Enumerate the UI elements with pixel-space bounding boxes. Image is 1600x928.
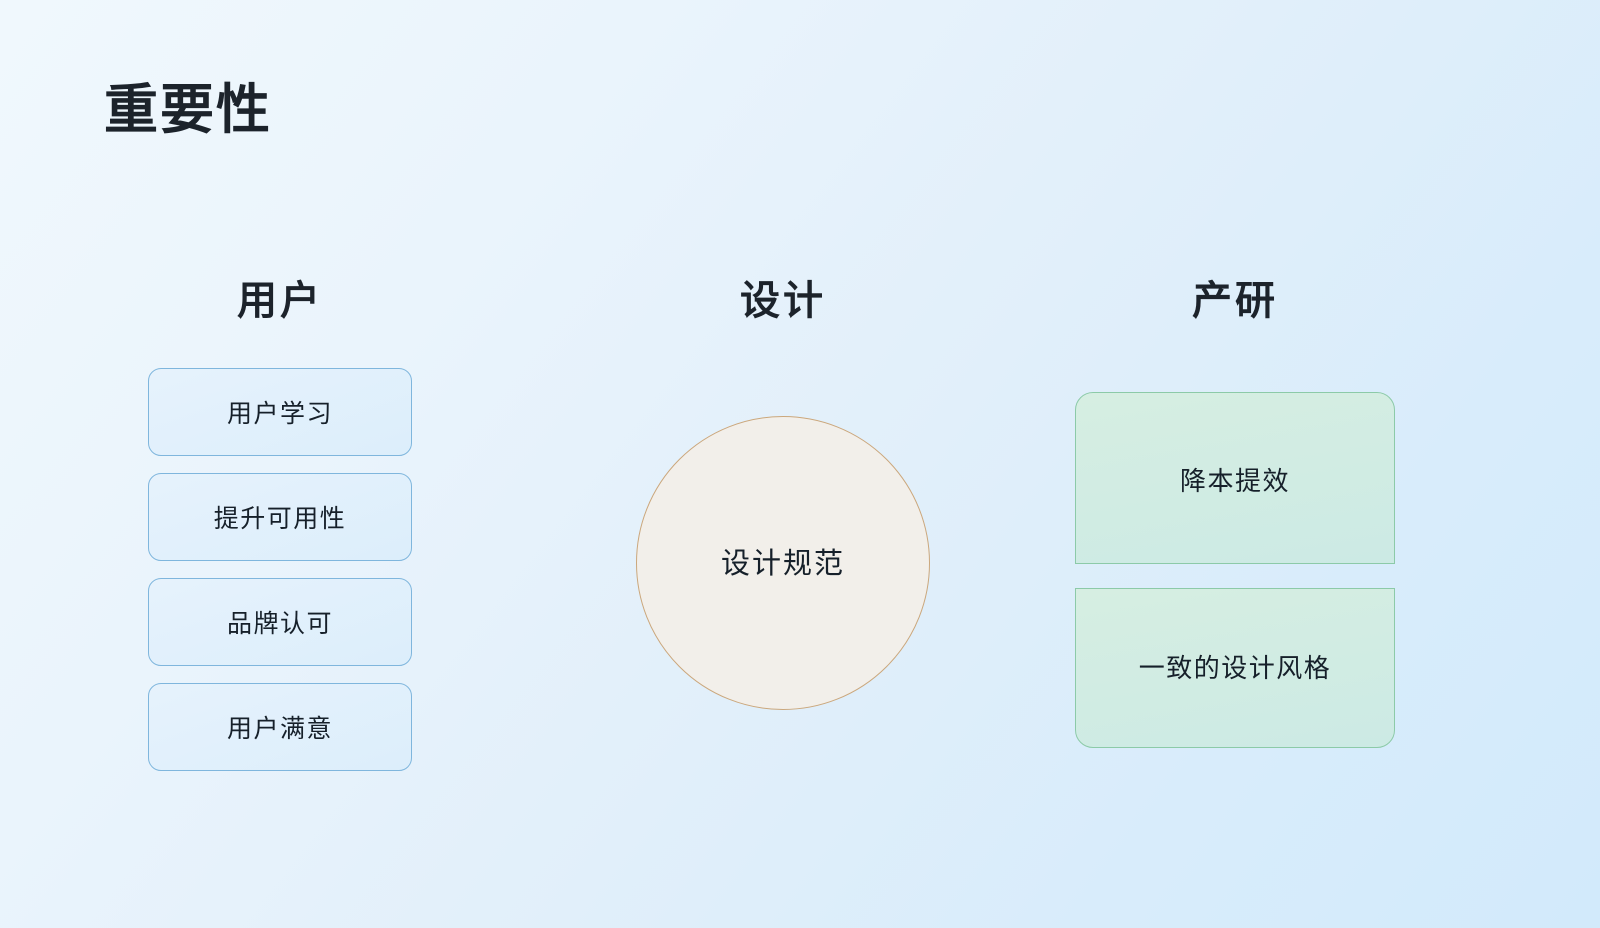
page-title: 重要性 [104, 79, 272, 141]
users-card-3-label: 品牌认可 [227, 604, 333, 640]
column-heading-research: 产研 [1075, 268, 1395, 326]
design-circle-wrap: 设计规范 [636, 416, 930, 710]
research-card-2[interactable]: 一致的设计风格 [1075, 588, 1395, 748]
research-card-list: 降本提效 一致的设计风格 [1075, 392, 1395, 748]
research-card-2-label: 一致的设计风格 [1076, 648, 1394, 685]
column-heading-users: 用户 [150, 268, 410, 326]
users-card-1-label: 用户学习 [227, 394, 333, 430]
design-circle[interactable]: 设计规范 [636, 416, 930, 710]
column-heading-design: 设计 [633, 268, 933, 326]
users-card-1[interactable]: 用户学习 [148, 368, 412, 456]
users-card-3[interactable]: 品牌认可 [148, 578, 412, 666]
users-card-4[interactable]: 用户满意 [148, 683, 412, 771]
slide-canvas: 重要性 用户 用户学习 提升可用性 品牌认可 用户满意 设计 设计规范 产研 降… [0, 0, 1600, 928]
research-card-1-label: 降本提效 [1076, 461, 1394, 498]
users-card-4-label: 用户满意 [227, 709, 333, 745]
research-card-1[interactable]: 降本提效 [1075, 392, 1395, 564]
users-card-list: 用户学习 提升可用性 品牌认可 用户满意 [148, 368, 412, 771]
users-card-2-label: 提升可用性 [214, 499, 347, 535]
users-card-2[interactable]: 提升可用性 [148, 473, 412, 561]
design-circle-label: 设计规范 [637, 540, 929, 582]
